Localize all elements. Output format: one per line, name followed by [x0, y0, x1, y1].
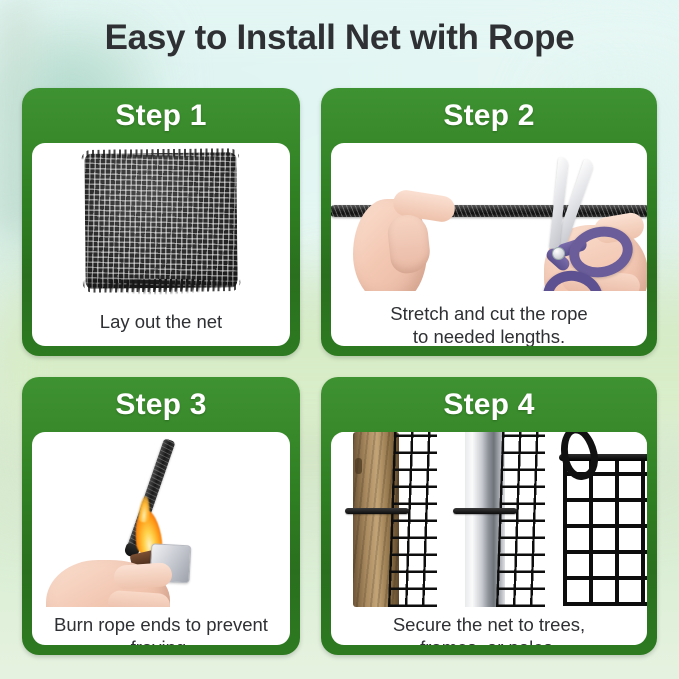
- left-hand-icon: [353, 191, 449, 291]
- mesh-net-icon: [84, 152, 237, 289]
- net-corner-photo: [555, 432, 647, 607]
- net-mesh-icon: [388, 432, 437, 607]
- step-3-illustration-burn-rope: [32, 432, 290, 607]
- infographic-page: Easy to Install Net with Rope Step 1 Lay…: [0, 0, 679, 679]
- scissors-icon: [517, 153, 647, 291]
- step-3-panel: Burn rope ends to prevent fraying.: [32, 432, 290, 645]
- step-1-header: Step 1: [22, 88, 300, 143]
- step-card-2: Step 2: [321, 88, 657, 356]
- step-4-panel: Secure the net to trees, frames, or pole…: [331, 432, 647, 645]
- step-3-caption: Burn rope ends to prevent fraying.: [38, 614, 284, 645]
- step-4-caption-line-2: frames, or poles.: [337, 637, 641, 645]
- net-mesh-icon: [496, 432, 545, 607]
- step-1-panel: Lay out the net: [32, 143, 290, 346]
- step-2-illustration-cut-rope: [331, 143, 647, 291]
- step-2-panel: Stretch and cut the rope to needed lengt…: [331, 143, 647, 346]
- step-2-header: Step 2: [321, 88, 657, 143]
- step-4-caption: Secure the net to trees, frames, or pole…: [337, 614, 641, 645]
- step-4-illustration-secure-net: [331, 432, 647, 607]
- hand-icon: [46, 560, 196, 607]
- step-card-1: Step 1 Lay out the net: [22, 88, 300, 356]
- step-1-caption: Lay out the net: [38, 311, 284, 334]
- step-2-caption-line-1: Stretch and cut the rope: [337, 303, 641, 326]
- step-1-illustration-net: [32, 143, 290, 303]
- net-corner-icon: [563, 458, 647, 606]
- step-card-3: Step 3 Burn rope ends to prevent fraying…: [22, 377, 300, 655]
- step-2-caption: Stretch and cut the rope to needed lengt…: [337, 303, 641, 346]
- step-2-caption-line-2: to needed lengths.: [337, 326, 641, 346]
- step-card-4: Step 4 Secure: [321, 377, 657, 655]
- step-4-header: Step 4: [321, 377, 657, 432]
- net-on-pole-photo: [447, 432, 545, 607]
- step-3-caption-line-2: fraying.: [38, 637, 284, 645]
- step-4-caption-line-1: Secure the net to trees,: [337, 614, 641, 637]
- page-title: Easy to Install Net with Rope: [0, 18, 679, 58]
- step-3-caption-line-1: Burn rope ends to prevent: [38, 614, 284, 637]
- net-on-tree-photo: [339, 432, 437, 607]
- step-3-header: Step 3: [22, 377, 300, 432]
- zip-tie-icon: [453, 508, 517, 514]
- zip-tie-icon: [345, 508, 409, 514]
